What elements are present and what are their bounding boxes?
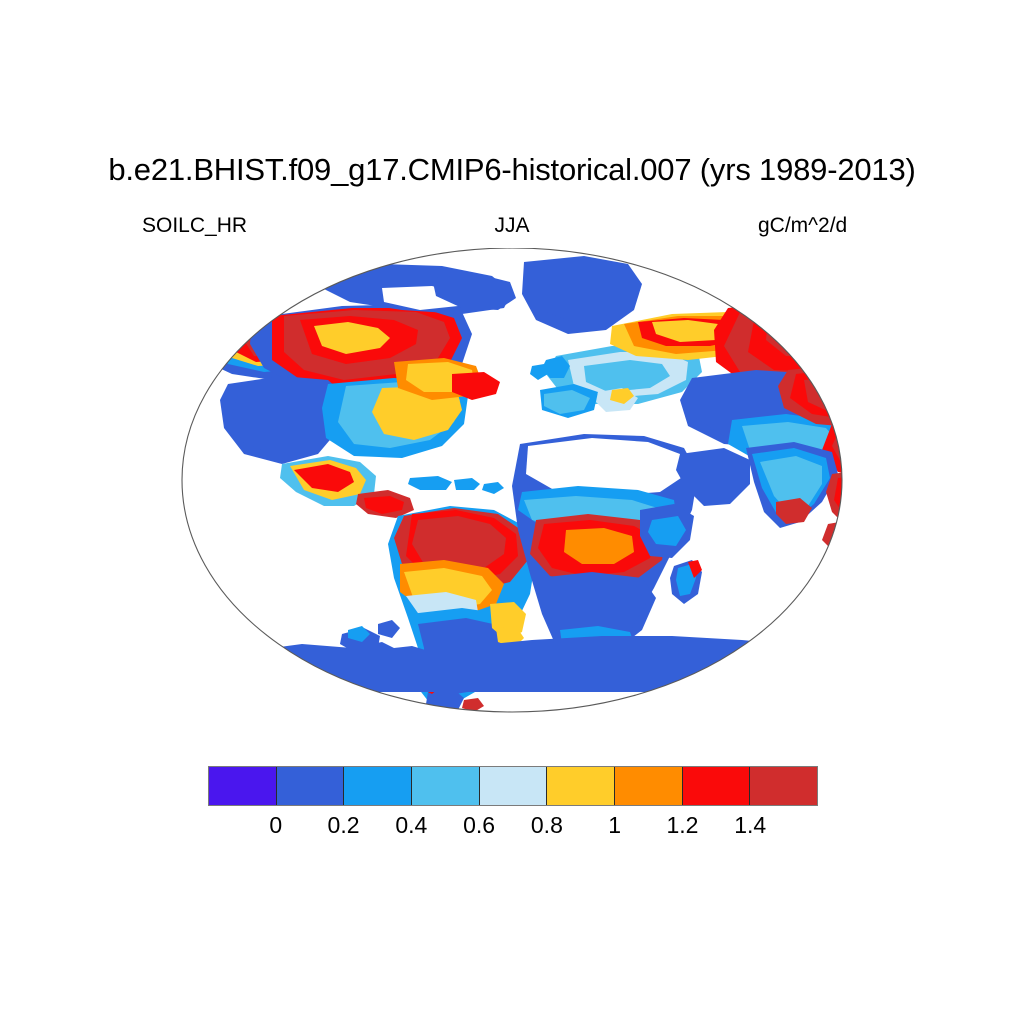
colorbar-tick-1.2: 1.2 [666, 812, 698, 839]
colorbar-segment-5[interactable] [547, 767, 615, 805]
colorbar-tick-0: 0 [269, 812, 282, 839]
colorbar-tick-0.4: 0.4 [395, 812, 427, 839]
colorbar-tick-1.4: 1.4 [734, 812, 766, 839]
season-label: JJA [0, 214, 1024, 238]
world-map [132, 248, 892, 720]
colorbar-tick-0.8: 0.8 [531, 812, 563, 839]
colorbar-segment-2[interactable] [344, 767, 412, 805]
colorbar-segment-1[interactable] [277, 767, 345, 805]
colorbar-segment-6[interactable] [615, 767, 683, 805]
colorbar-segment-8[interactable] [750, 767, 817, 805]
colorbar-tick-0.6: 0.6 [463, 812, 495, 839]
units-label: gC/m^2/d [758, 214, 847, 238]
map-svg [132, 248, 892, 720]
figure-canvas: b.e21.BHIST.f09_g17.CMIP6-historical.007… [0, 0, 1024, 1024]
colorbar-segment-4[interactable] [480, 767, 548, 805]
colorbar-tick-0.2: 0.2 [328, 812, 360, 839]
colorbar-tick-1: 1 [608, 812, 621, 839]
colorbar-segment-0[interactable] [209, 767, 277, 805]
page-title: b.e21.BHIST.f09_g17.CMIP6-historical.007… [0, 152, 1024, 188]
colorbar-segment-3[interactable] [412, 767, 480, 805]
colorbar-segment-7[interactable] [683, 767, 751, 805]
colorbar-tick-labels: 00.20.40.60.811.21.4 [208, 812, 818, 842]
colorbar[interactable] [208, 766, 818, 806]
colorbar-segments[interactable] [208, 766, 818, 806]
